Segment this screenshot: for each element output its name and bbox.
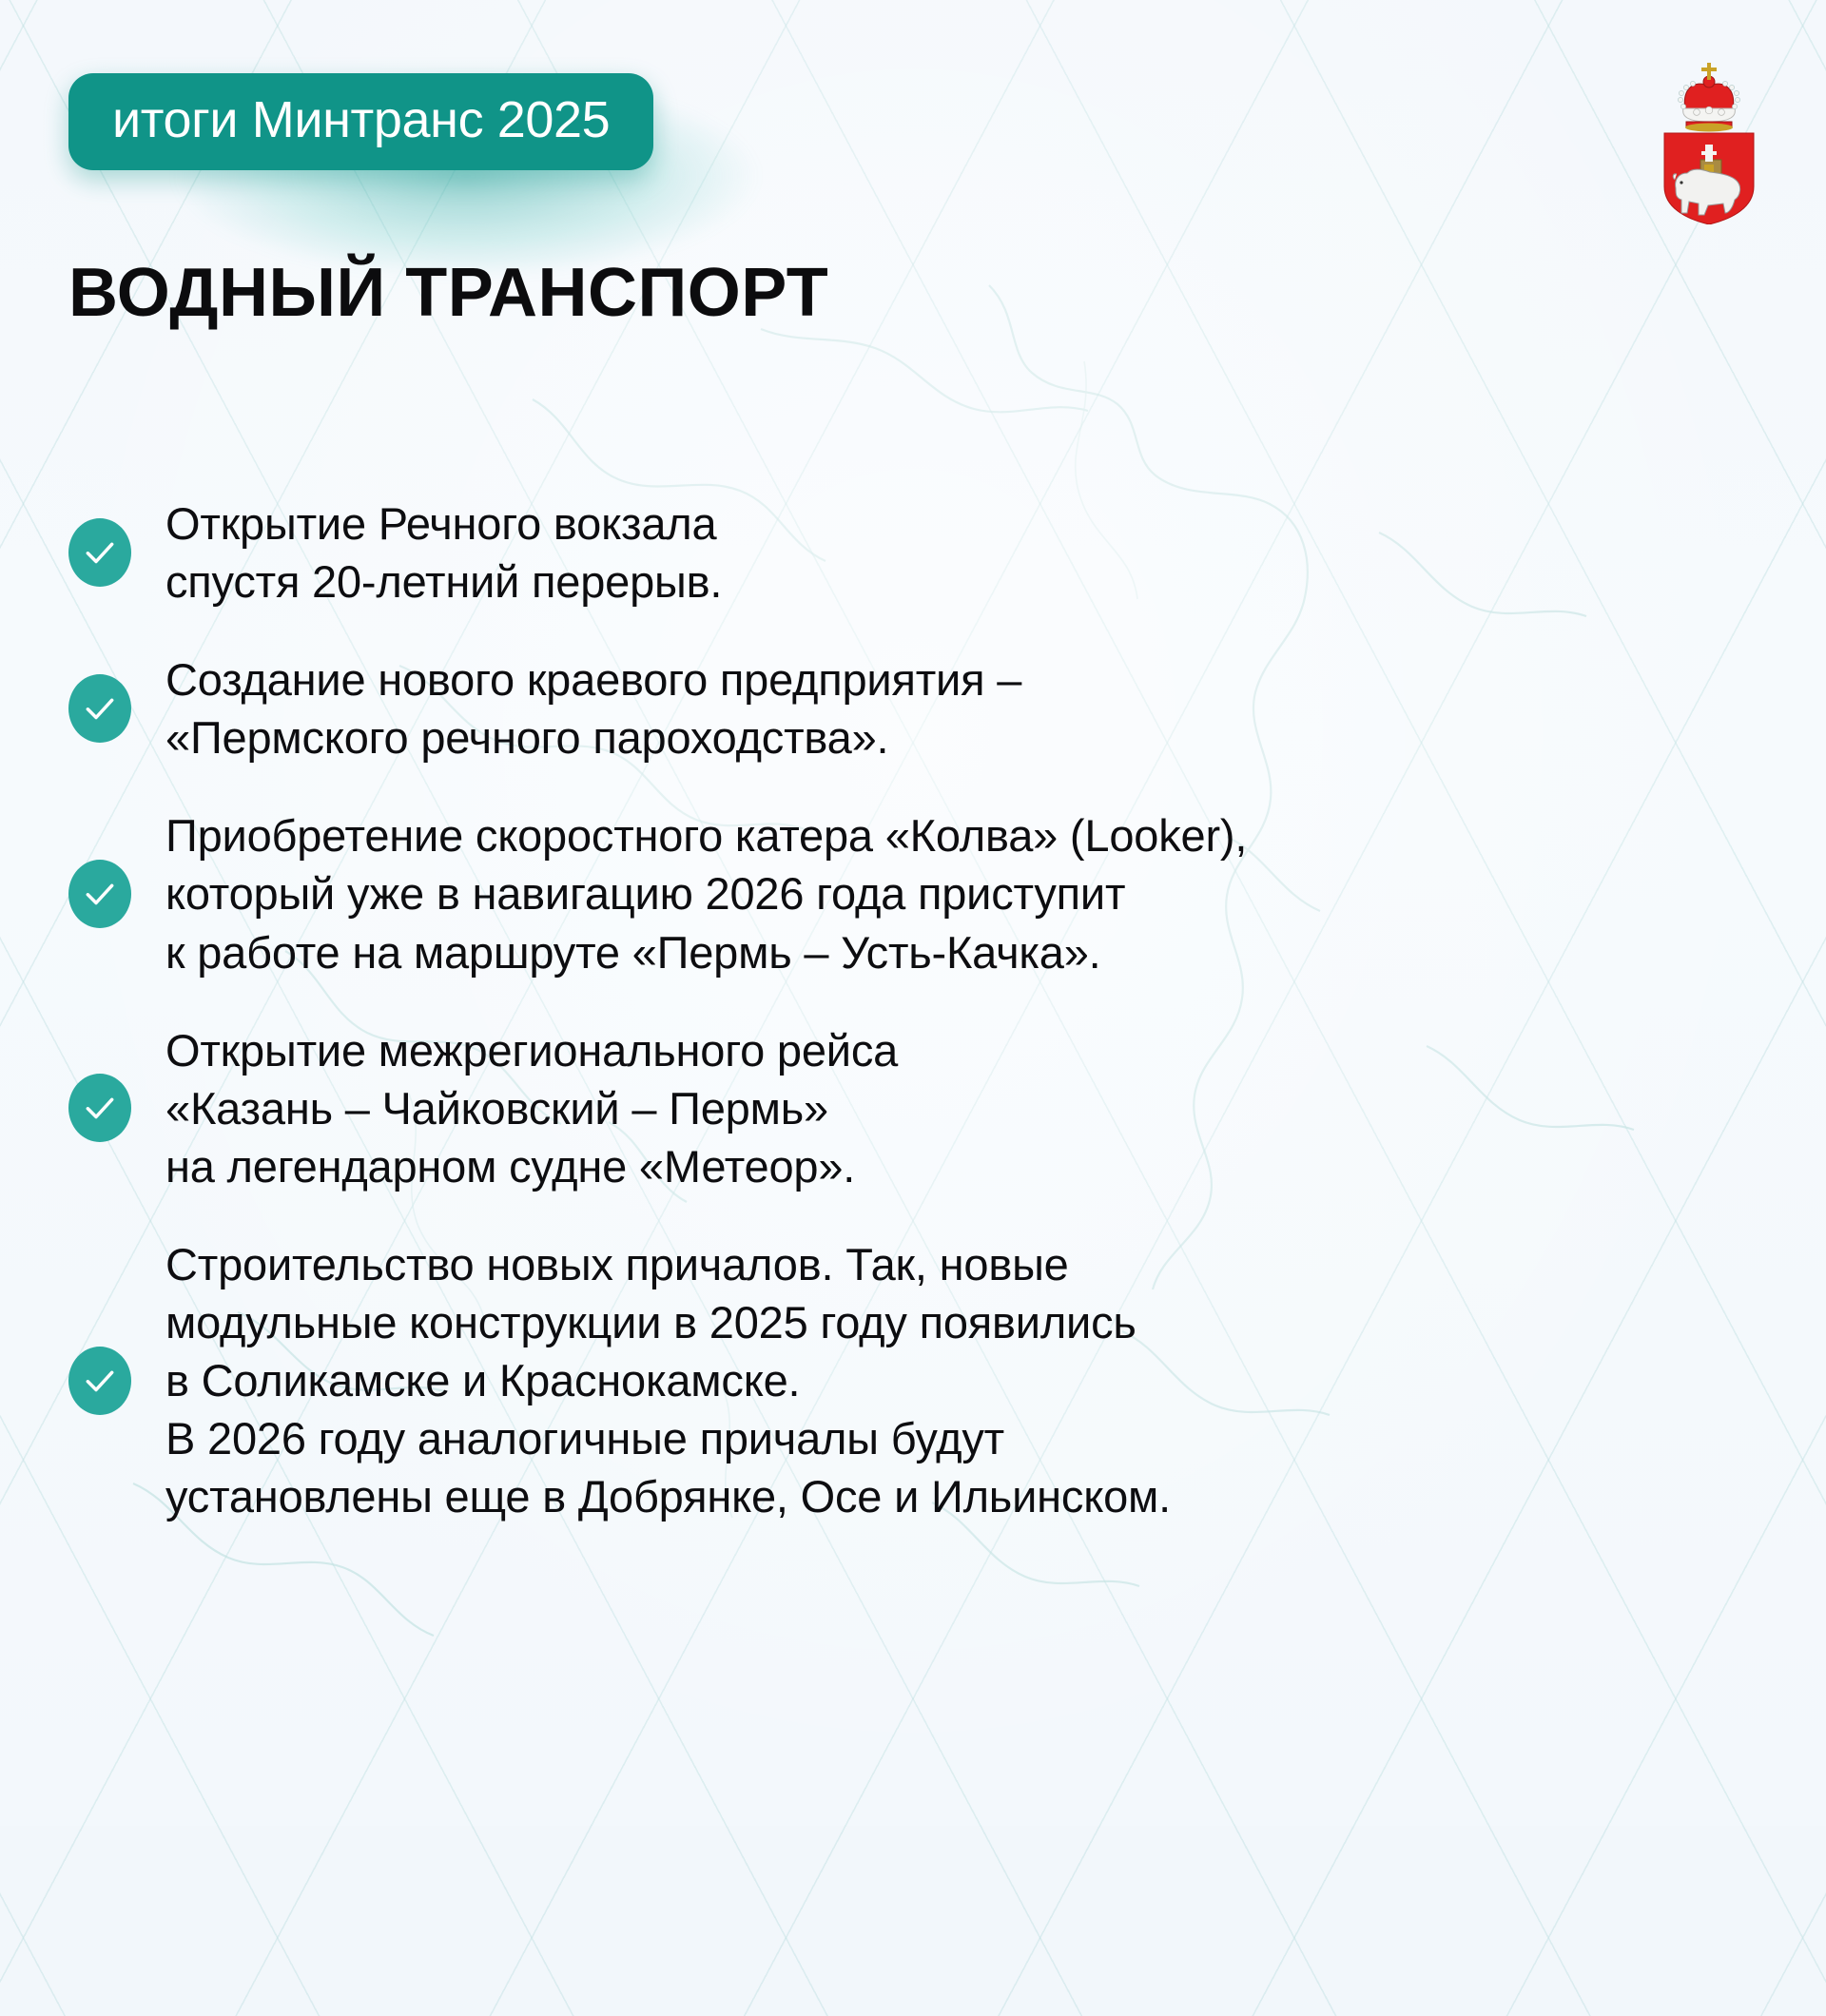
check-icon [68,860,131,928]
achievements-list: Открытие Речного вокзала спустя 20-летни… [68,494,1771,1525]
results-badge: итоги Минтранс 2025 [68,73,653,170]
check-icon [68,1074,131,1142]
results-badge-label: итоги Минтранс 2025 [112,94,610,145]
check-icon [68,674,131,743]
list-item: Создание нового краевого предприятия – «… [68,650,1771,766]
list-item-text: Создание нового краевого предприятия – «… [165,650,1021,766]
list-item: Открытие Речного вокзала спустя 20-летни… [68,494,1771,611]
list-item-text: Приобретение скоростного катера «Колва» … [165,806,1247,980]
coat-of-arms-icon [1647,53,1771,224]
list-item-text: Открытие Речного вокзала спустя 20-летни… [165,494,722,611]
list-item-text: Строительство новых причалов. Так, новые… [165,1235,1171,1525]
page-title: ВОДНЫЙ ТРАНСПОРТ [68,259,828,327]
infographic-page: итоги Минтранс 2025 ВОДНЫЙ ТРАНСПОРТ [0,0,1826,1826]
list-item: Строительство новых причалов. Так, новые… [68,1235,1771,1525]
list-item: Приобретение скоростного катера «Колва» … [68,806,1771,980]
check-icon [68,518,131,587]
list-item: Открытие межрегионального рейса «Казань … [68,1021,1771,1195]
check-icon [68,1347,131,1415]
list-item-text: Открытие межрегионального рейса «Казань … [165,1021,898,1195]
